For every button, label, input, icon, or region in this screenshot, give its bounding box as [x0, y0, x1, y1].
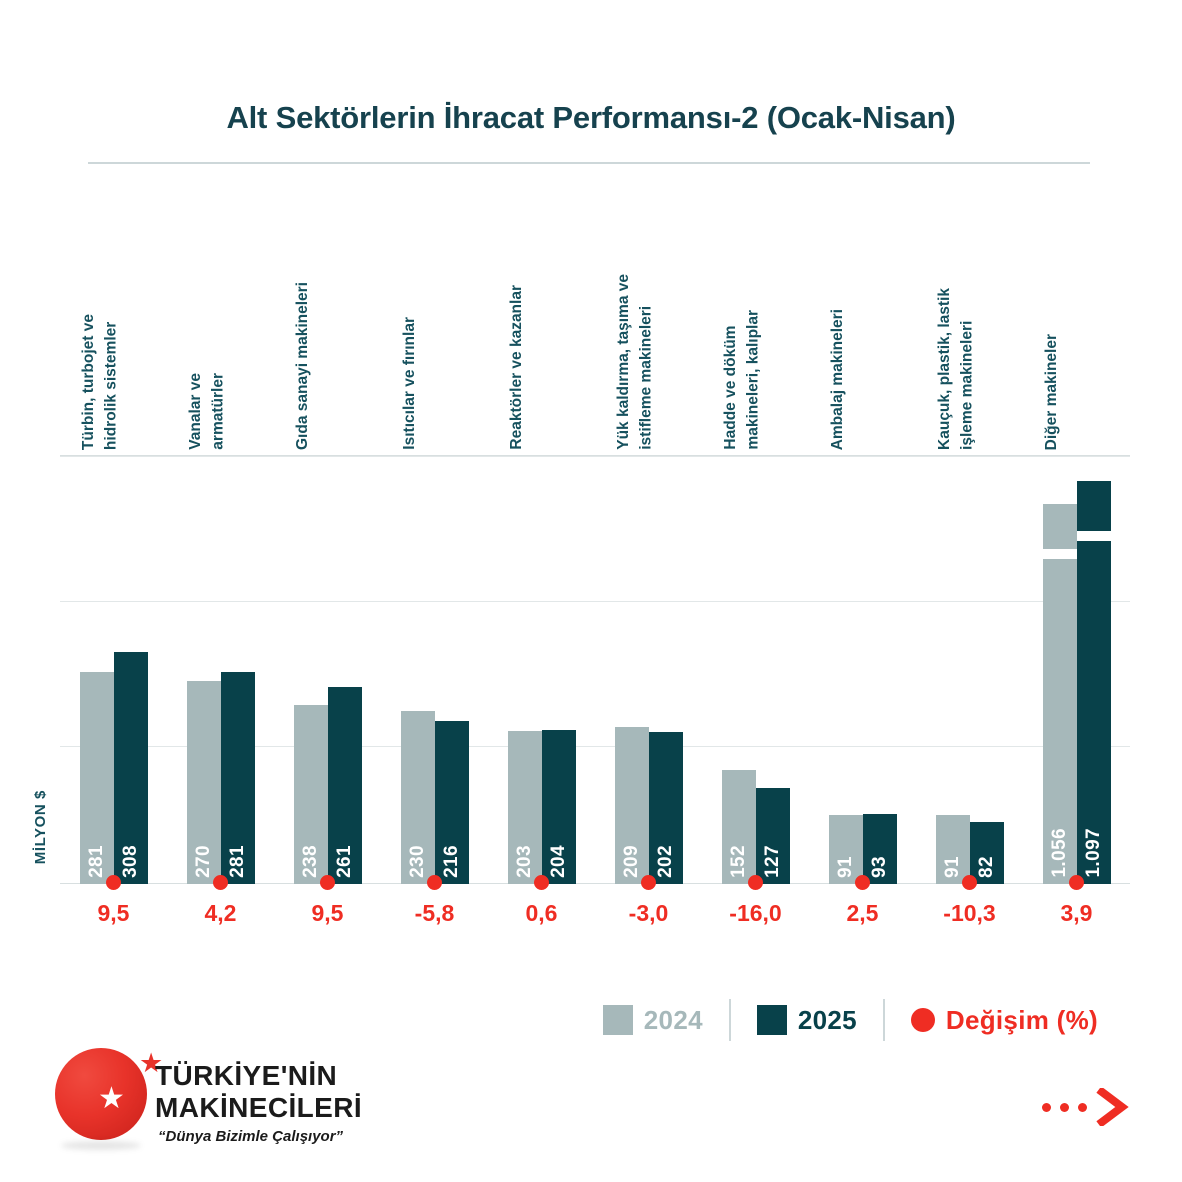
bar-value-label: 308	[120, 845, 142, 878]
bar-value-label: 230	[407, 845, 429, 878]
bar-value-label: 203	[514, 845, 536, 878]
bar-value-label: 91	[942, 856, 964, 878]
dot-icon	[1060, 1103, 1069, 1112]
category-label: Kauçuk, plastik, lastik işleme makineler…	[934, 288, 979, 450]
bar-y2025: 204	[542, 730, 576, 884]
bar-y2024-cap	[1043, 504, 1077, 549]
bar-y2025: 261	[328, 687, 362, 884]
change-value: -5,8	[381, 900, 488, 927]
bar-y2025: 216	[435, 721, 469, 884]
bar-y2024: 203	[508, 731, 542, 884]
logo-tagline: “Dünya Bizimle Çalışıyor”	[158, 1128, 343, 1145]
change-marker-dot	[534, 875, 549, 890]
page-title: Alt Sektörlerin İhracat Performansı-2 (O…	[0, 100, 1182, 136]
bar-y2024: 281	[80, 672, 114, 884]
bar-y2024: 230	[401, 711, 435, 884]
dot-icon	[1078, 1103, 1087, 1112]
change-marker-dot	[320, 875, 335, 890]
bar-y2025-cap	[1077, 481, 1111, 531]
change-value: 9,5	[60, 900, 167, 927]
logo-shadow	[61, 1141, 141, 1150]
bar-value-label: 261	[334, 845, 356, 878]
change-marker-dot	[641, 875, 656, 890]
bar-y2025: 308	[114, 652, 148, 884]
bar-y2024: 209	[615, 727, 649, 884]
bar-value-label: 152	[728, 845, 750, 878]
bar-y2025: 202	[649, 732, 683, 884]
bar-value-label: 1.097	[1083, 828, 1105, 878]
change-marker-dot	[213, 875, 228, 890]
bar-value-label: 1.056	[1049, 828, 1071, 878]
change-value: 4,2	[167, 900, 274, 927]
change-value: -10,3	[916, 900, 1023, 927]
bar-value-label: 209	[621, 845, 643, 878]
bar-value-label: 238	[300, 845, 322, 878]
legend-circle-icon	[911, 1008, 935, 1032]
legend-square-icon	[757, 1005, 787, 1035]
change-marker-dot	[427, 875, 442, 890]
category-label: Reaktörler ve kazanlar	[506, 285, 528, 450]
legend-label: 2025	[798, 1005, 857, 1036]
infographic-root: Alt Sektörlerin İhracat Performansı-2 (O…	[0, 0, 1182, 1182]
category-label: Ambalaj makineleri	[827, 309, 849, 450]
chevron-right-icon	[1096, 1088, 1130, 1126]
change-marker-dot	[106, 875, 121, 890]
change-value: 9,5	[274, 900, 381, 927]
bar-value-label: 216	[441, 845, 463, 878]
logo-star-white-icon: ★	[98, 1084, 125, 1114]
gridline	[60, 456, 1130, 457]
bar-value-label: 270	[193, 845, 215, 878]
legend-label: 2024	[644, 1005, 703, 1036]
bar-y2024: 91	[829, 815, 863, 884]
change-marker-dot	[748, 875, 763, 890]
bar-y2025: 93	[863, 814, 897, 884]
legend-square-icon	[603, 1005, 633, 1035]
category-label: Vanalar ve armatürler	[185, 373, 230, 450]
bar-value-label: 202	[655, 845, 677, 878]
chart-legend: 20242025Değişim (%)	[577, 997, 1124, 1043]
dot-icon	[1042, 1103, 1051, 1112]
category-label: Isıtıcılar ve fırınlar	[399, 317, 421, 450]
legend-item-de-i-im-[interactable]: Değişim (%)	[885, 1005, 1124, 1036]
gridline	[60, 601, 1130, 602]
bar-y2024: 270	[187, 681, 221, 884]
bar-y2024: 238	[294, 705, 328, 884]
change-marker-dot	[962, 875, 977, 890]
title-divider	[88, 162, 1090, 164]
legend-label: Değişim (%)	[946, 1005, 1098, 1036]
change-value: -16,0	[702, 900, 809, 927]
bar-y2025: 1.097	[1077, 541, 1111, 884]
y-axis-label: MİLYON $	[32, 790, 49, 864]
change-value: 3,9	[1023, 900, 1130, 927]
change-value: 0,6	[488, 900, 595, 927]
category-label: Yük kaldırma, taşıma ve istifleme makine…	[613, 274, 658, 450]
next-slide-arrow[interactable]	[1042, 1088, 1130, 1126]
brand-logo: ★ ★ TÜRKİYE'NİN MAKİNECİLERİ “Dünya Bizi…	[55, 1040, 405, 1155]
change-value-row: 9,54,29,5-5,80,6-3,0-16,02,5-10,33,9	[60, 900, 1130, 934]
bar-y2025: 281	[221, 672, 255, 884]
bar-chart-plot: 2813082702812382612302162032042092021521…	[60, 456, 1130, 884]
category-label-band: Türbin, turbojet ve hidrolik sistemlerVa…	[60, 185, 1130, 450]
bar-y2025: 127	[756, 788, 790, 884]
bar-y2025: 82	[970, 822, 1004, 884]
legend-item-2024[interactable]: 2024	[577, 1005, 729, 1036]
bar-value-label: 93	[869, 856, 891, 878]
bar-y2024: 152	[722, 770, 756, 884]
change-value: -3,0	[595, 900, 702, 927]
bar-y2024: 1.056	[1043, 559, 1077, 884]
change-marker-dot	[855, 875, 870, 890]
bar-value-label: 82	[976, 856, 998, 878]
category-label: Gıda sanayi makineleri	[292, 282, 314, 450]
change-marker-dot	[1069, 875, 1084, 890]
logo-line-2: MAKİNECİLERİ	[155, 1092, 362, 1124]
category-label: Diğer makineler	[1041, 334, 1063, 450]
change-value: 2,5	[809, 900, 916, 927]
bar-y2024: 91	[936, 815, 970, 884]
logo-line-1: TÜRKİYE'NİN	[155, 1060, 337, 1092]
bar-value-label: 127	[762, 845, 784, 878]
category-label: Türbin, turbojet ve hidrolik sistemler	[78, 314, 123, 450]
bar-value-label: 281	[86, 845, 108, 878]
bar-value-label: 281	[227, 845, 249, 878]
bar-value-label: 91	[835, 856, 857, 878]
legend-item-2025[interactable]: 2025	[731, 1005, 883, 1036]
category-label: Hadde ve döküm makineleri, kalıplar	[720, 310, 765, 450]
bar-value-label: 204	[548, 845, 570, 878]
